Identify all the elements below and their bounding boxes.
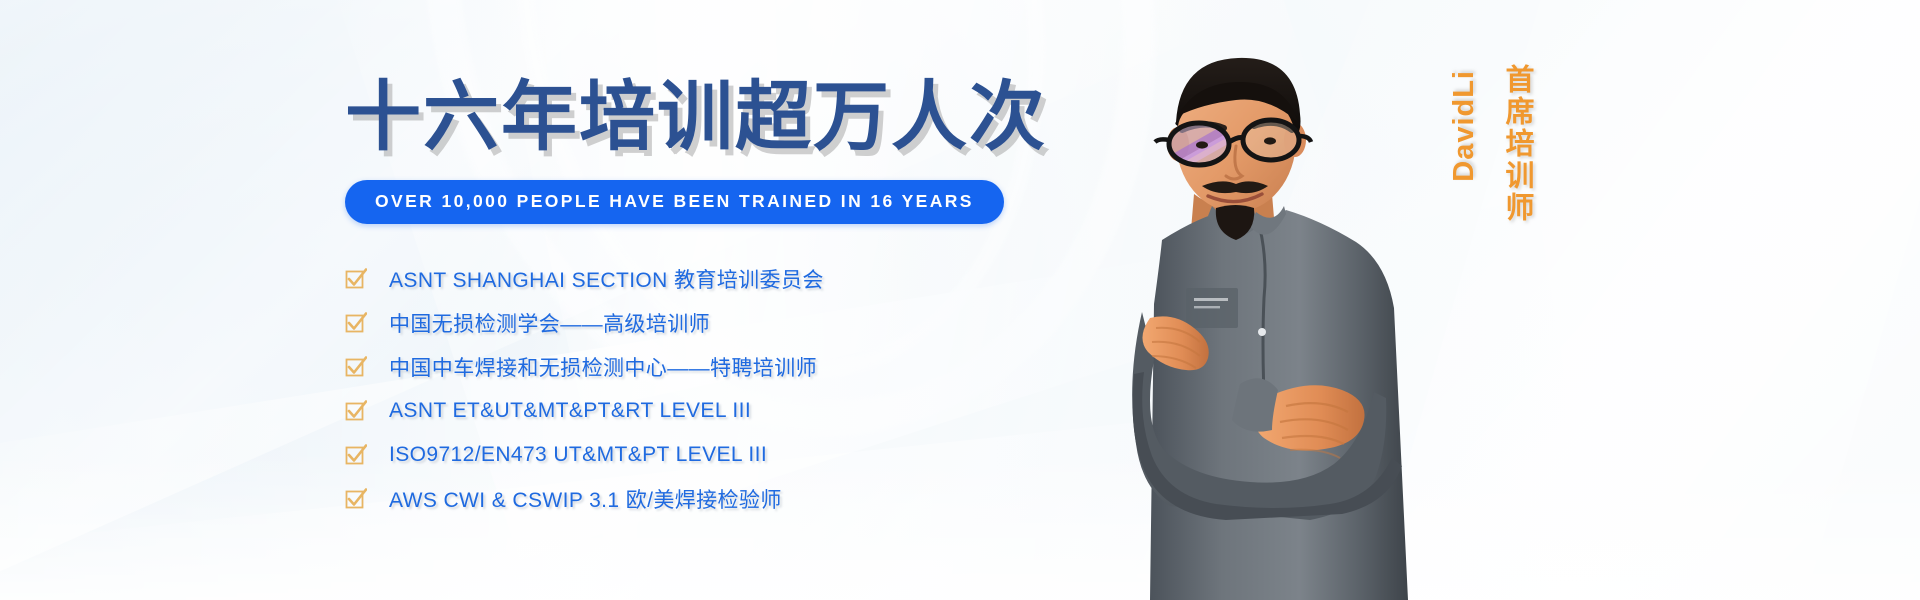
banner-copy: 十六年培训超万人次 OVER 10,000 PEOPLE HAVE BEEN T… xyxy=(345,78,965,526)
credentials-list: ASNT SHANGHAI SECTION 教育培训委员会 中国无损检测学会——… xyxy=(345,262,965,516)
checkbox-checked-icon xyxy=(345,312,367,334)
checkbox-checked-icon xyxy=(345,444,367,466)
list-item: AWS CWI & CSWIP 3.1 欧/美焊接检验师 xyxy=(345,482,965,516)
list-item-label: ISO9712/EN473 UT&MT&PT LEVEL III xyxy=(389,443,767,467)
checkbox-checked-icon xyxy=(345,400,367,422)
checkbox-checked-icon xyxy=(345,488,367,510)
list-item-label: AWS CWI & CSWIP 3.1 欧/美焊接检验师 xyxy=(389,484,782,514)
list-item-label: 中国中车焊接和无损检测中心——特聘培训师 xyxy=(389,352,817,382)
list-item: ISO9712/EN473 UT&MT&PT LEVEL III xyxy=(345,438,965,472)
page-title: 十六年培训超万人次 xyxy=(345,78,965,158)
list-item: 中国中车焊接和无损检测中心——特聘培训师 xyxy=(345,350,965,384)
list-item: ASNT ET&UT&MT&PT&RT LEVEL III xyxy=(345,394,965,428)
instructor-portrait xyxy=(1090,44,1480,600)
trainer-name-vertical: DavidLi xyxy=(1448,70,1481,182)
checkbox-checked-icon xyxy=(345,268,367,290)
list-item-label: ASNT ET&UT&MT&PT&RT LEVEL III xyxy=(389,399,751,423)
list-item: ASNT SHANGHAI SECTION 教育培训委员会 xyxy=(345,262,965,296)
promo-banner: 十六年培训超万人次 OVER 10,000 PEOPLE HAVE BEEN T… xyxy=(0,0,1920,600)
trainer-title-vertical: 首席培训师 xyxy=(1496,64,1538,224)
list-item: 中国无损检测学会——高级培训师 xyxy=(345,306,965,340)
subtitle-pill: OVER 10,000 PEOPLE HAVE BEEN TRAINED IN … xyxy=(345,180,1004,224)
list-item-label: ASNT SHANGHAI SECTION 教育培训委员会 xyxy=(389,264,824,294)
checkbox-checked-icon xyxy=(345,356,367,378)
list-item-label: 中国无损检测学会——高级培训师 xyxy=(389,308,710,338)
